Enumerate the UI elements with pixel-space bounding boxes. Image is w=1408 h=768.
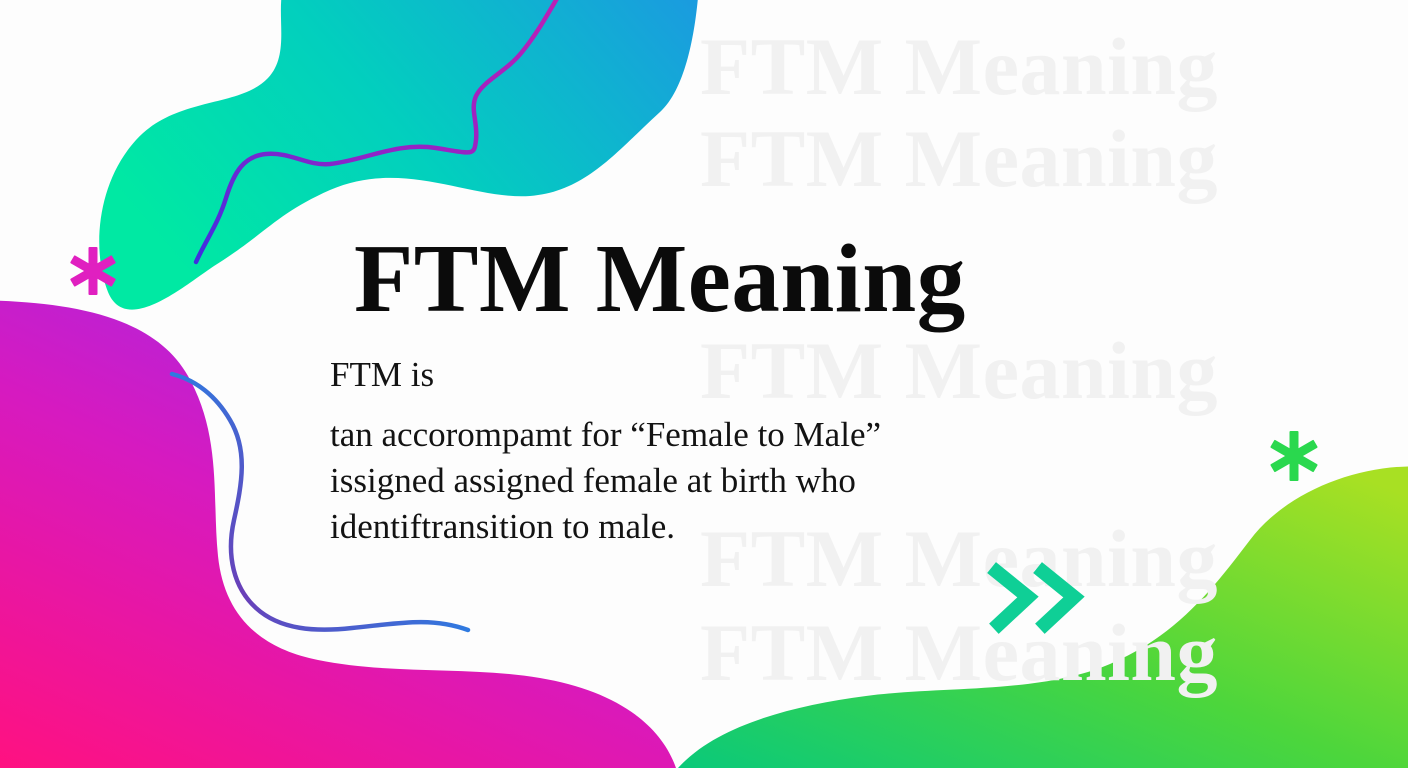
body-line: identiftransition to male. — [330, 504, 1050, 550]
body-line: issigned assigned female at birth who — [330, 458, 1050, 504]
watermark-text: FTM Meaning — [700, 612, 1218, 694]
slide-canvas: FTM Meaning FTM Meaning FTM Meaning FTM … — [0, 0, 1408, 768]
magenta-asterisk-icon — [70, 247, 116, 295]
body-line: FTM is — [330, 352, 1050, 398]
double-chevron-right-icon — [997, 572, 1074, 624]
page-title: FTM Meaning — [354, 228, 1050, 330]
watermark-text: FTM Meaning — [700, 118, 1218, 200]
body-paragraph: FTM is tan accorompamt for “Female to Ma… — [330, 352, 1050, 551]
watermark-text: FTM Meaning — [700, 26, 1218, 108]
purple-magenta-squiggle — [196, 0, 568, 262]
green-asterisk-icon — [1270, 431, 1318, 481]
slide-content: FTM Meaning FTM is tan accorompamt for “… — [330, 228, 1050, 551]
body-line: tan accorompamt for “Female to Male” — [330, 412, 1050, 458]
